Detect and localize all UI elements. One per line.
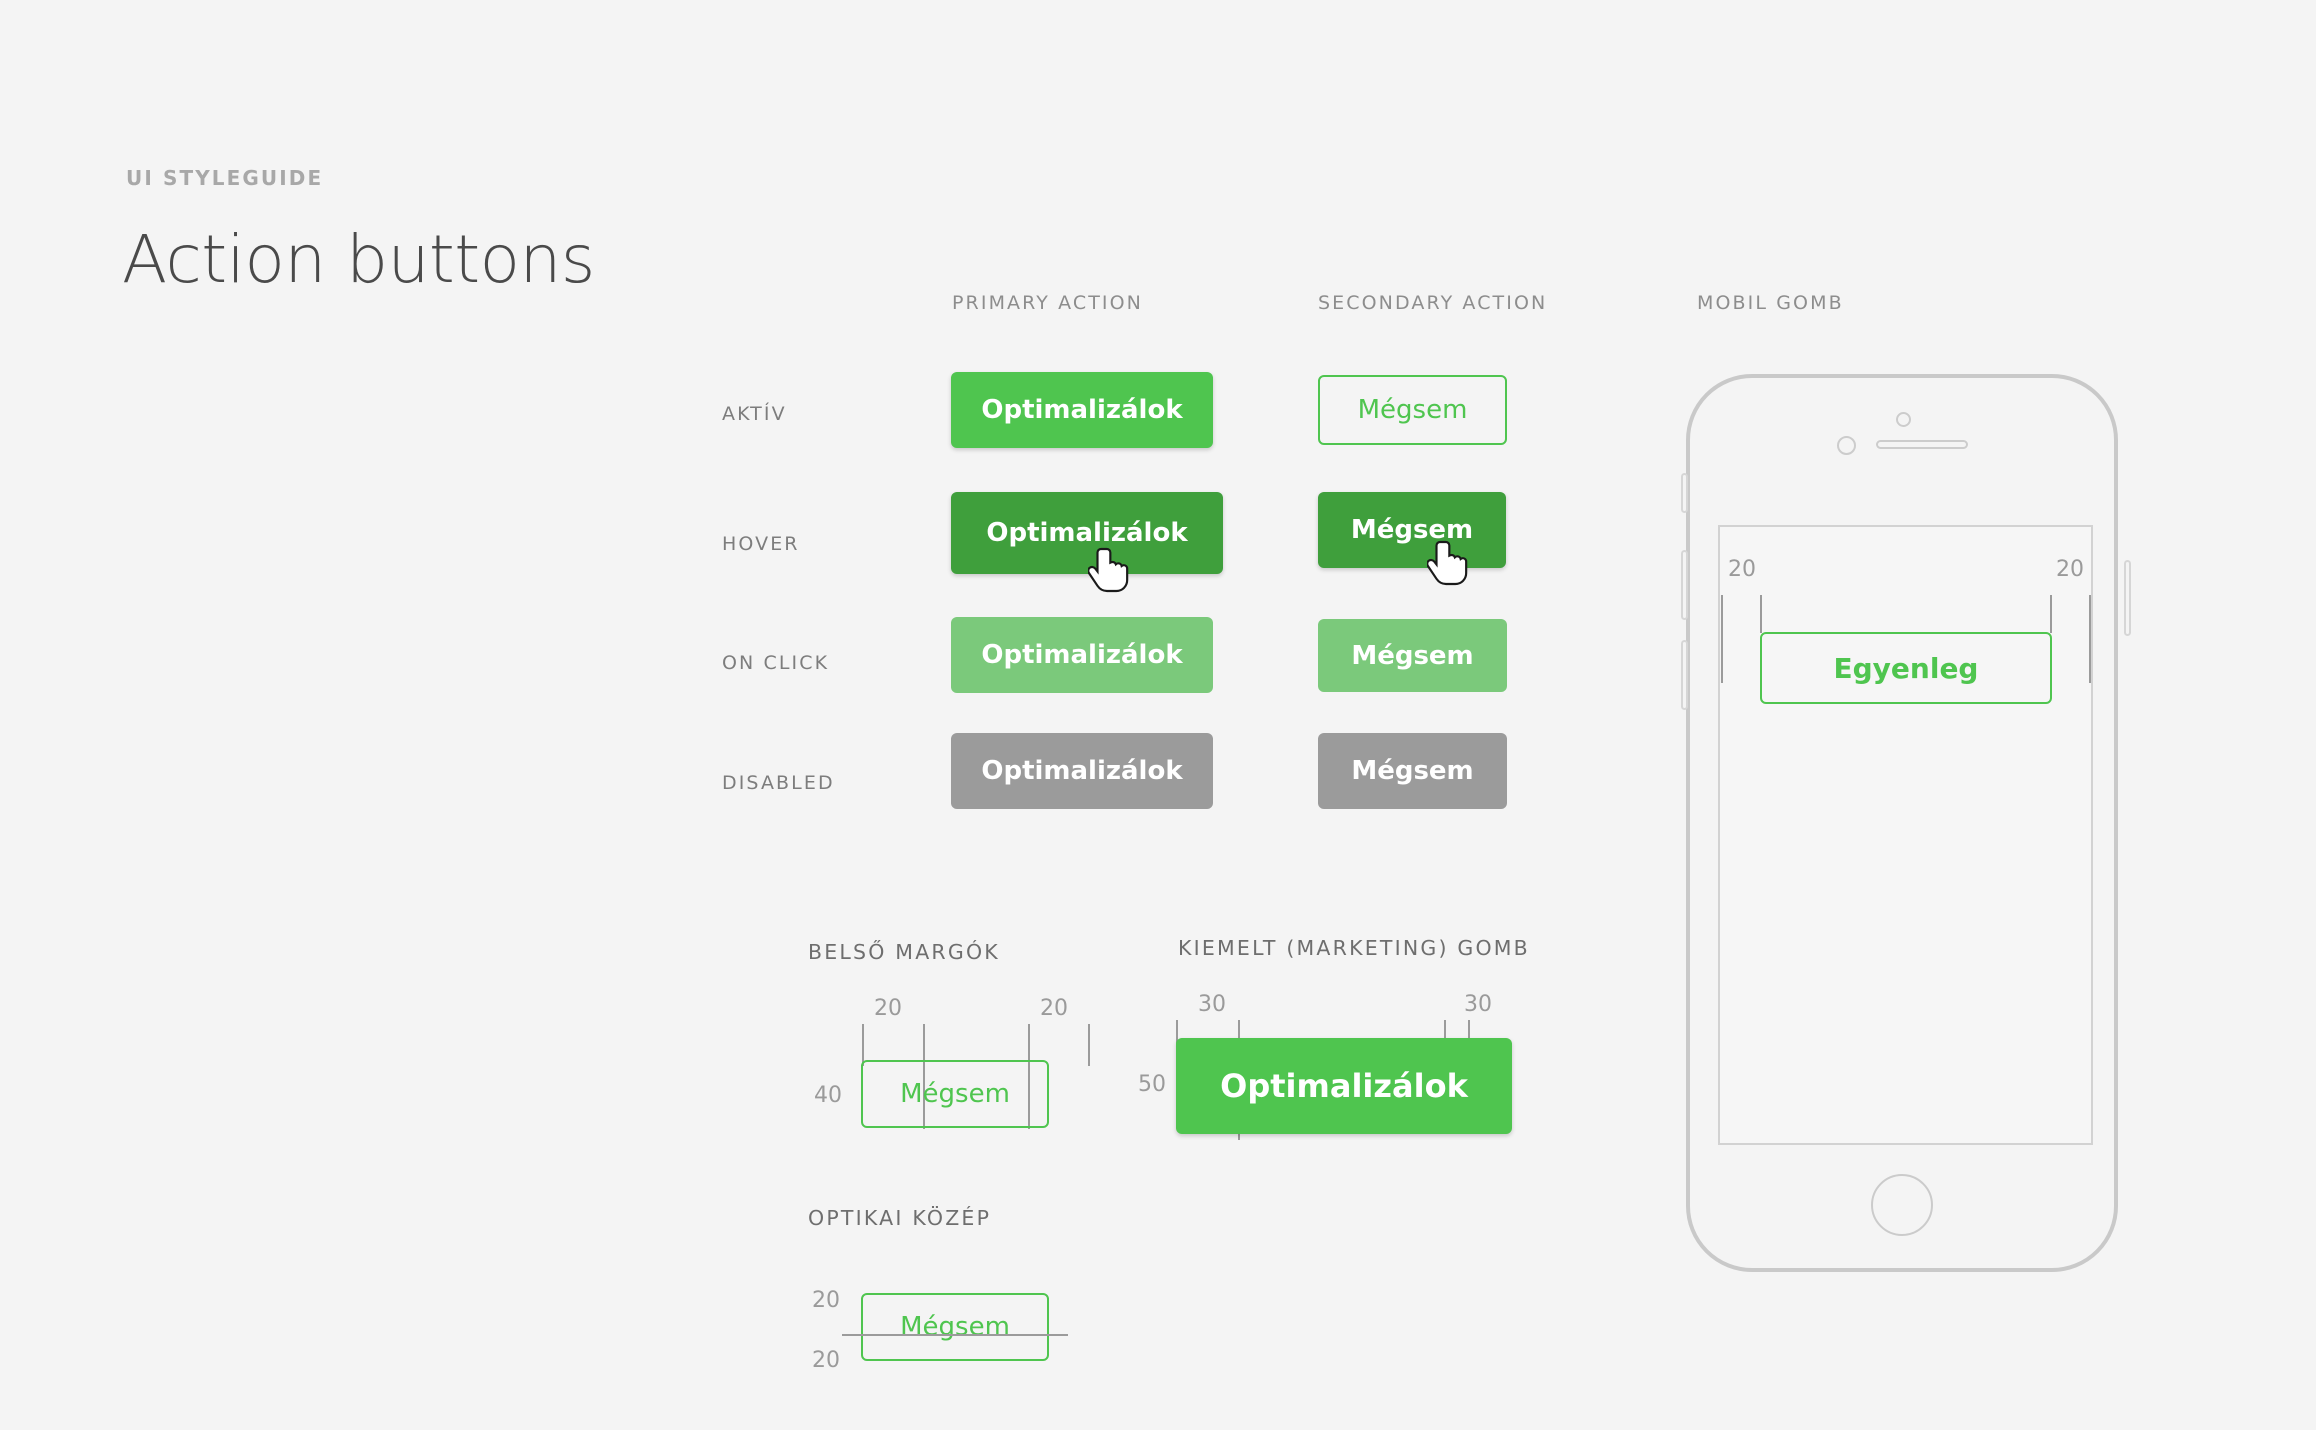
margin-value-vertical: 40: [814, 1083, 842, 1108]
proximity-sensor-icon: [1837, 436, 1856, 455]
section-heading-marketing: KIEMELT (MARKETING) GOMB: [1178, 936, 1530, 960]
secondary-button-onclick-label: Mégsem: [1351, 641, 1473, 671]
styleguide-canvas: UI STYLEGUIDE Action buttons PRIMARY ACT…: [0, 0, 2316, 1430]
primary-button-aktiv-label: Optimalizálok: [981, 395, 1182, 425]
marketing-value-right: 30: [1464, 992, 1492, 1017]
optical-center-button[interactable]: Mégsem: [861, 1293, 1049, 1361]
row-label-disabled: DISABLED: [722, 772, 835, 794]
phone-mockup: 20 20 Egyenleg: [1686, 374, 2118, 1272]
phone-egyenleg-button[interactable]: Egyenleg: [1760, 632, 2052, 704]
secondary-button-disabled-label: Mégsem: [1351, 756, 1473, 786]
eyebrow-label: UI STYLEGUIDE: [126, 166, 323, 190]
column-heading-mobil: MOBIL GOMB: [1697, 292, 1844, 314]
section-heading-inner-margins: BELSŐ MARGÓK: [808, 940, 1000, 964]
marketing-button[interactable]: Optimalizálok: [1176, 1038, 1512, 1134]
phone-margin-value-right: 20: [2056, 557, 2084, 582]
optical-center-axis-line: [842, 1334, 1068, 1336]
secondary-button-disabled: Mégsem: [1318, 733, 1507, 809]
row-label-on-click: ON CLICK: [722, 652, 829, 674]
phone-screen: 20 20 Egyenleg: [1718, 525, 2093, 1145]
phone-guide-right-edge: [2089, 595, 2091, 683]
marketing-button-label: Optimalizálok: [1220, 1067, 1468, 1105]
secondary-button-aktiv-label: Mégsem: [1358, 395, 1468, 425]
row-label-aktiv: AKTÍV: [722, 403, 787, 425]
inner-margins-button[interactable]: Mégsem: [861, 1060, 1049, 1128]
page-title: Action buttons: [122, 221, 595, 298]
primary-button-onclick-label: Optimalizálok: [981, 640, 1182, 670]
secondary-button-aktiv[interactable]: Mégsem: [1318, 375, 1507, 445]
column-heading-secondary: SECONDARY ACTION: [1318, 292, 1547, 314]
phone-guide-left-inner: [1760, 595, 1762, 633]
primary-button-onclick[interactable]: Optimalizálok: [951, 617, 1213, 693]
phone-guide-right-inner: [2050, 595, 2052, 633]
secondary-button-hover-label: Mégsem: [1351, 515, 1473, 545]
primary-button-disabled-label: Optimalizálok: [981, 756, 1182, 786]
marketing-value-left: 30: [1198, 992, 1226, 1017]
home-button[interactable]: [1871, 1174, 1933, 1236]
margin-value-right: 20: [1040, 996, 1068, 1021]
primary-button-hover[interactable]: Optimalizálok: [951, 492, 1223, 574]
guide-tick-right-outer: [1088, 1024, 1090, 1066]
power-button[interactable]: [2124, 560, 2131, 636]
primary-button-aktiv[interactable]: Optimalizálok: [951, 372, 1213, 448]
column-heading-primary: PRIMARY ACTION: [952, 292, 1143, 314]
section-heading-optical-center: OPTIKAI KÖZÉP: [808, 1206, 991, 1230]
secondary-button-onclick[interactable]: Mégsem: [1318, 619, 1507, 692]
primary-button-hover-label: Optimalizálok: [986, 518, 1187, 548]
inner-margins-button-label: Mégsem: [900, 1079, 1010, 1109]
optical-center-value-bottom: 20: [812, 1348, 840, 1373]
silent-switch[interactable]: [1681, 473, 1688, 513]
phone-egyenleg-button-label: Egyenleg: [1834, 652, 1979, 685]
volume-up-button[interactable]: [1681, 550, 1688, 620]
margin-value-left: 20: [874, 996, 902, 1021]
row-label-hover: HOVER: [722, 533, 800, 555]
phone-margin-value-left: 20: [1728, 557, 1756, 582]
phone-guide-left-edge: [1721, 595, 1723, 683]
optical-center-button-label: Mégsem: [900, 1312, 1010, 1342]
marketing-value-vertical: 50: [1138, 1072, 1166, 1097]
secondary-button-hover[interactable]: Mégsem: [1318, 492, 1506, 568]
front-camera-icon: [1896, 412, 1911, 427]
volume-down-button[interactable]: [1681, 640, 1688, 710]
primary-button-disabled: Optimalizálok: [951, 733, 1213, 809]
optical-center-value-top: 20: [812, 1288, 840, 1313]
earpiece-speaker-icon: [1876, 440, 1968, 449]
